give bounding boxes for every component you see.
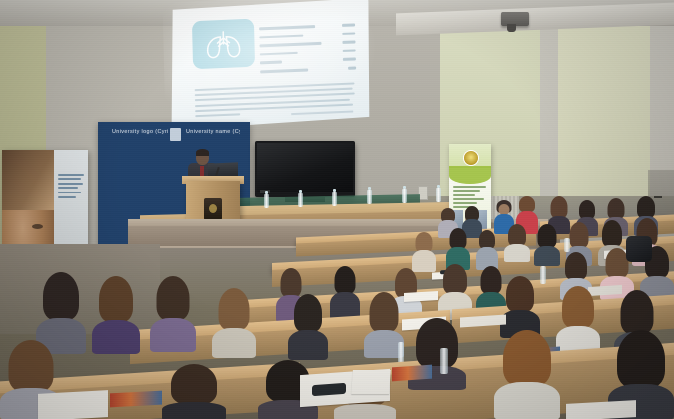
banner-text-block (58, 174, 84, 200)
banner-logo-mark-icon (170, 128, 181, 141)
water-bottle (298, 193, 303, 207)
presenter-hair (196, 149, 209, 156)
gold-circular-emblem-icon (463, 150, 479, 166)
desk-papers (38, 390, 108, 419)
wall-panel-right-2 (558, 14, 654, 218)
audience-person (494, 330, 560, 419)
water-bottle (402, 189, 407, 203)
screen-surface (169, 0, 372, 130)
banner-logo-right-text: University name (Cyrillic, illegible) (186, 129, 240, 141)
lecture-hall-photograph: ИЗХОД → (0, 0, 674, 419)
water-bottle (436, 188, 441, 202)
slide-paragraph (195, 82, 356, 120)
tv-panel (257, 143, 353, 192)
projector-lens (507, 24, 516, 32)
audience-person (330, 266, 360, 320)
lungs-icon (197, 23, 250, 65)
magazine (392, 365, 432, 382)
portrait-hair (2, 150, 54, 210)
water-bottle (332, 192, 337, 206)
audience-person (504, 224, 530, 262)
banner-logo-left-text: University logo (Cyrillic, illegible) (112, 129, 168, 141)
audience-person (288, 294, 328, 360)
magazine (110, 391, 162, 408)
backpack (626, 236, 652, 262)
podium-crest-emblem (204, 198, 222, 220)
audience-person (556, 286, 600, 356)
audience-person (150, 276, 196, 352)
water-bottle (264, 194, 269, 208)
water-bottle (564, 238, 570, 252)
wall-panel-gap (540, 18, 559, 224)
desk-papers (351, 370, 391, 394)
audience-person (412, 232, 436, 272)
projection-screen (169, 0, 372, 130)
audience-person (162, 364, 226, 419)
audience-person (92, 276, 140, 354)
water-bottle (440, 348, 448, 374)
banner-green-swoosh (449, 166, 491, 184)
banner-logo-group: University logo (Cyrillic, illegible) Un… (108, 126, 240, 144)
slide-data-table (259, 20, 356, 76)
flat-screen-display (255, 141, 355, 203)
audience-person (534, 224, 560, 266)
audience-person (212, 288, 256, 358)
audience-person (500, 276, 540, 338)
portrait-eye (32, 224, 43, 229)
water-bottle (367, 190, 372, 204)
tv-bezel (255, 141, 355, 197)
audience-person (476, 230, 498, 270)
water-bottle (540, 266, 546, 284)
desk-papers (566, 400, 636, 419)
